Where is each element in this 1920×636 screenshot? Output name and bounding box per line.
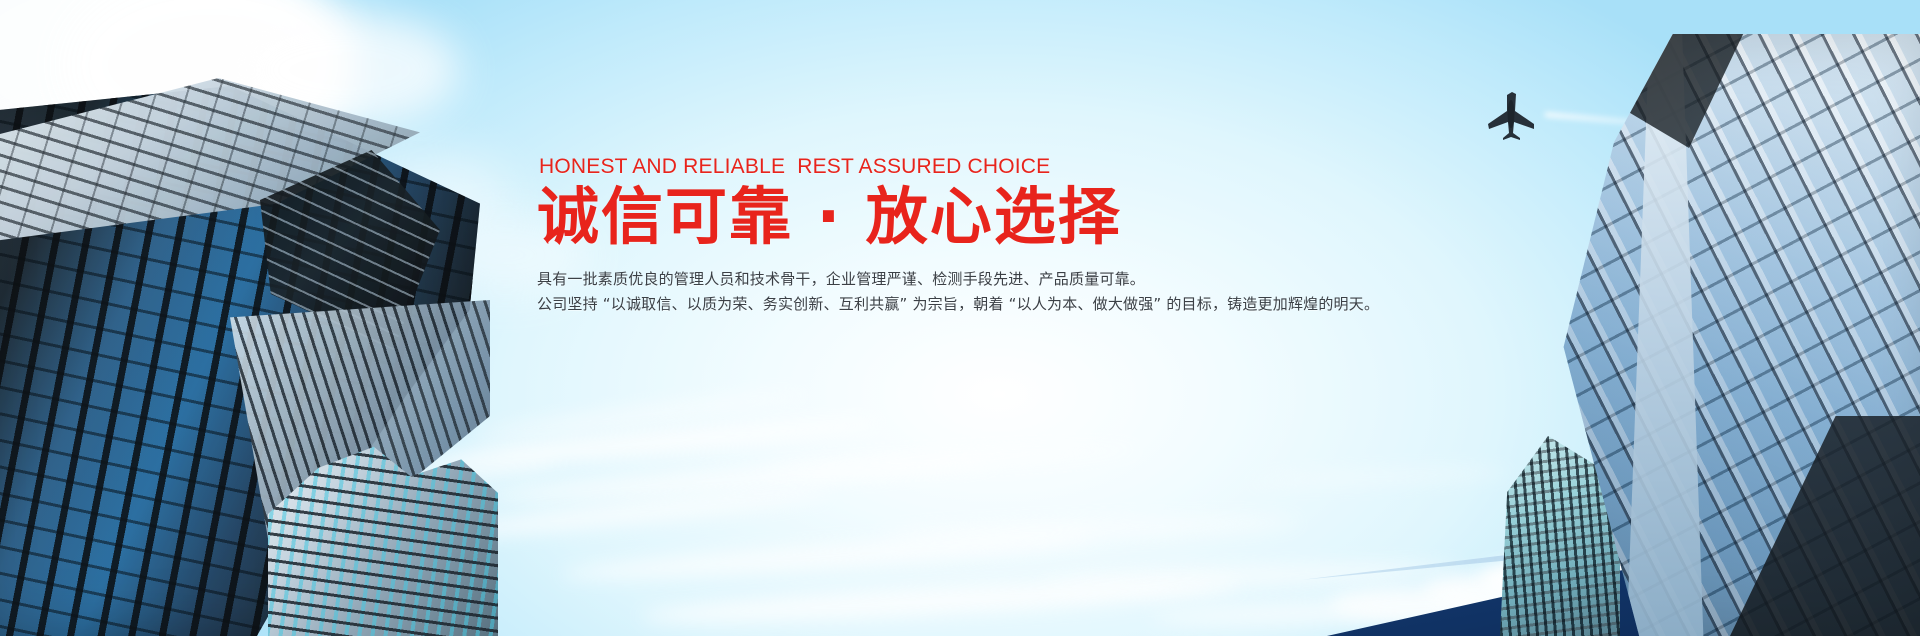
- cirrus-wisp: [880, 513, 1300, 546]
- cirrus-wisp: [1250, 465, 1510, 488]
- hero-banner: HONEST AND RELIABLE REST ASSURED CHOICE …: [0, 0, 1920, 636]
- left-skyscraper-glass-facade: [0, 86, 480, 636]
- navy-building-wedge: [1300, 442, 1820, 636]
- cirrus-wisp: [300, 452, 560, 504]
- contrail: [1545, 112, 1745, 134]
- left-secondary-building: [268, 430, 498, 636]
- cirrus-wisp: [420, 412, 880, 474]
- airplane-icon: [1482, 88, 1544, 140]
- banner-eyebrow: HONEST AND RELIABLE REST ASSURED CHOICE: [539, 155, 1657, 178]
- banner-copy-block: HONEST AND RELIABLE REST ASSURED CHOICE …: [537, 155, 1657, 317]
- cirrus-wisp: [560, 526, 1100, 586]
- cirrus-wisp: [760, 442, 1140, 476]
- left-skyscraper-crown: [260, 150, 440, 350]
- left-skyscraper-edge-slats: [230, 300, 490, 590]
- banner-headline: 诚信可靠 · 放心选择: [537, 184, 1657, 251]
- banner-body-line-2: 公司坚持 “以诚取信、以质为荣、务实创新、互利共赢” 为宗旨，朝着 “以人为本、…: [537, 292, 1657, 317]
- cloud-shape: [0, 110, 220, 230]
- left-secondary-building-windows: [268, 430, 498, 636]
- cirrus-wisp: [640, 572, 1241, 629]
- banner-body-line-1: 具有一批素质优良的管理人员和技术骨干，企业管理严谨、检测手段先进、产品质量可靠。: [537, 267, 1657, 292]
- left-skyscraper-crown-slats: [260, 150, 440, 350]
- left-skyscraper-edge-band: [230, 300, 490, 590]
- left-skyscraper: [0, 86, 480, 636]
- cloud-shape: [230, 10, 460, 130]
- cloud-shape: [330, 150, 510, 240]
- cirrus-wisp: [470, 387, 809, 442]
- left-skyscraper-roof-grid: [0, 78, 420, 248]
- cirrus-wisp: [1040, 559, 1460, 594]
- cirrus-wisp: [400, 483, 830, 548]
- cirrus-wisp: [480, 452, 1000, 506]
- cloud-shape: [60, 0, 360, 160]
- left-skyscraper-roof: [0, 78, 420, 248]
- cloud-shape: [0, 0, 330, 180]
